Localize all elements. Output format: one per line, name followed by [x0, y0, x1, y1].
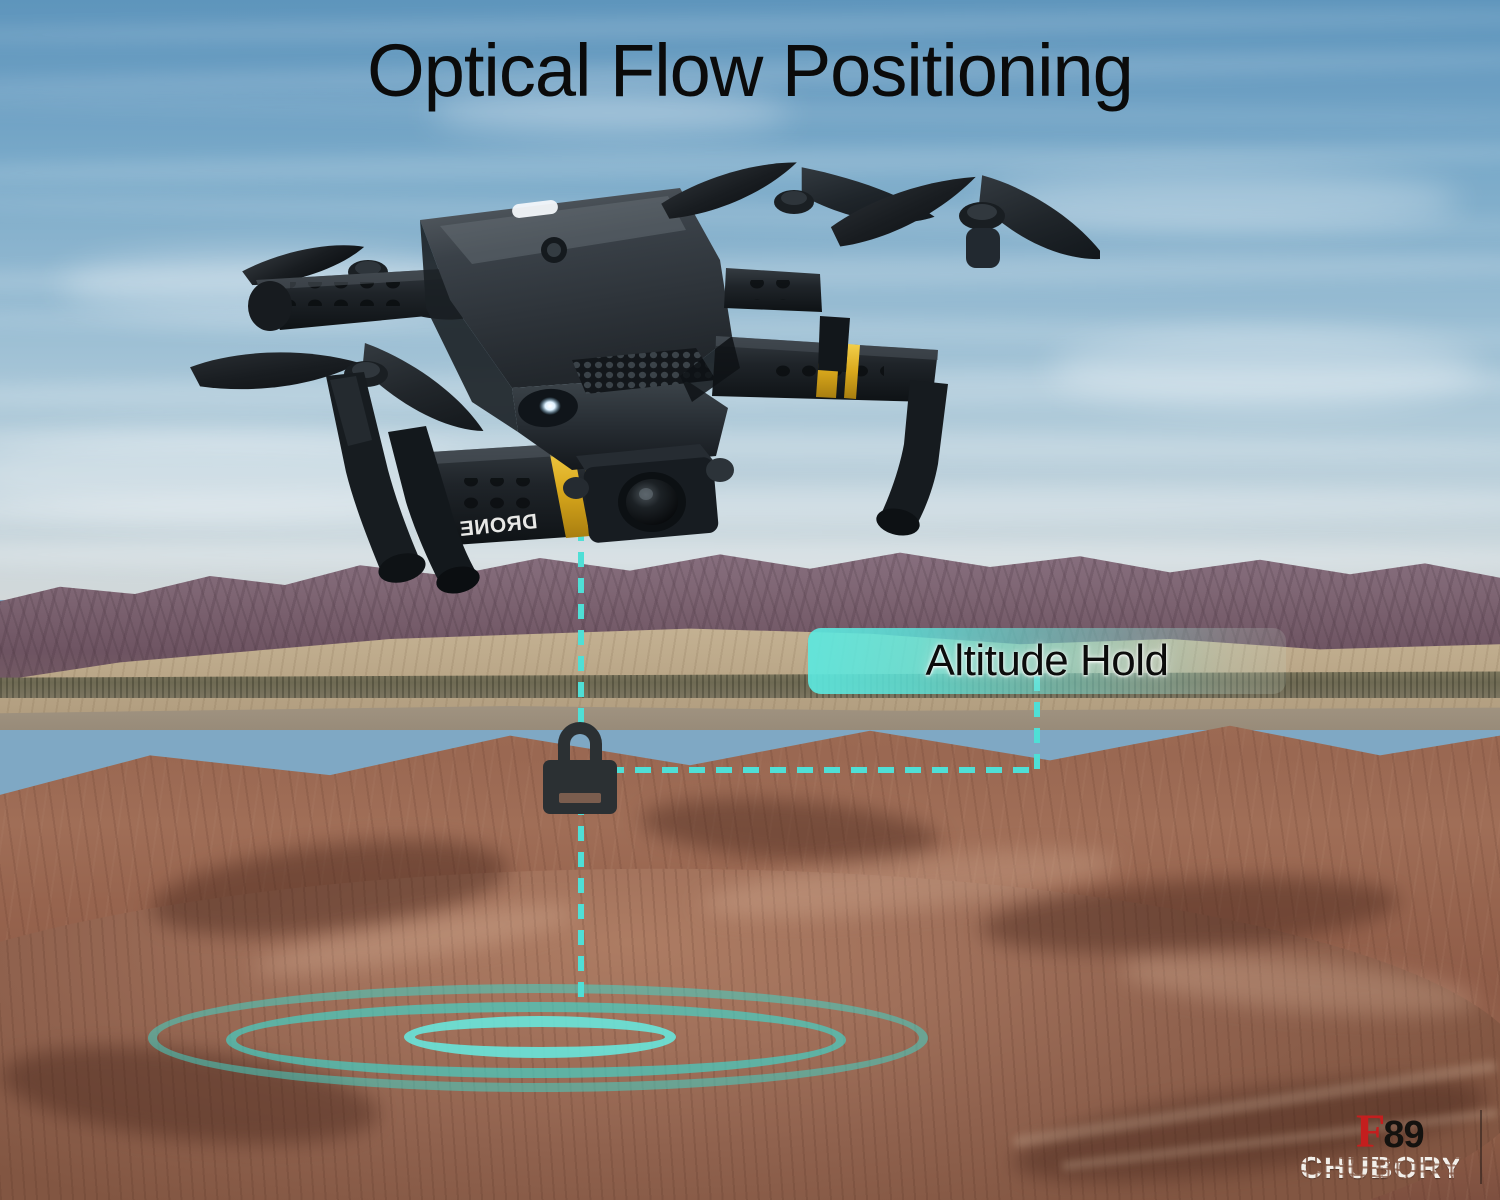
drone-illustration: DRONE F89: [120, 140, 1100, 600]
gimbal-camera: [563, 444, 734, 544]
logo-brand-name: CHUBORY: [1300, 1150, 1463, 1186]
brand-logo: F89 CHUBORY: [1300, 1108, 1486, 1192]
landing-leg-right: [874, 380, 948, 539]
arm-rear-right: [724, 268, 822, 312]
optical-flow-ground-rings: [148, 984, 928, 1092]
ground-ring-inner: [404, 1016, 676, 1058]
horizontal-dashed-guide: [608, 767, 1040, 773]
camera-lens: [626, 479, 678, 525]
logo-model-mark: F89: [1356, 1108, 1424, 1156]
page-title: Optical Flow Positioning: [0, 34, 1500, 108]
product-feature-image: DRONE F89: [0, 0, 1500, 1200]
altitude-hold-callout: Altitude Hold: [808, 628, 1286, 694]
padlock-body: [543, 760, 617, 814]
padlock-closed-icon: [543, 722, 617, 814]
logo-divider-rule: [1480, 1110, 1482, 1184]
vertical-dashed-guide-lower: [578, 800, 584, 1000]
padlock-keyhole-slot: [559, 793, 601, 803]
led-headlight-icon: [539, 397, 561, 415]
gimbal-pivot: [706, 458, 734, 482]
altitude-hold-label: Altitude Hold: [926, 636, 1169, 686]
landing-leg-right-rear: [818, 316, 850, 372]
